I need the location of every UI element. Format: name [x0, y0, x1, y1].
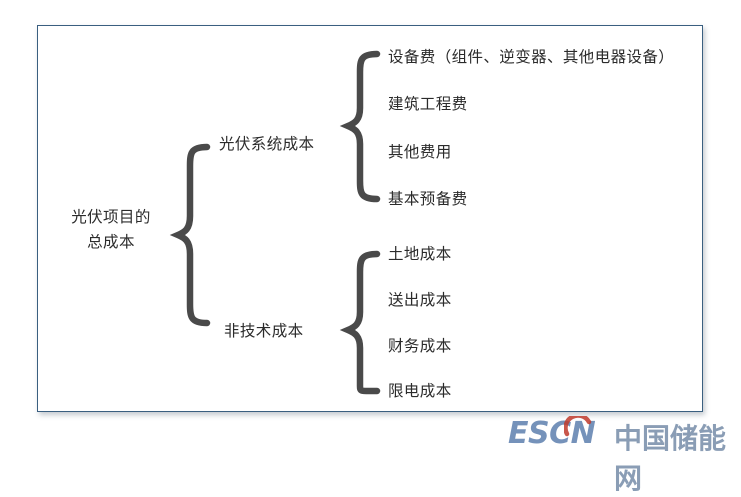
node-root: 光伏项目的 总成本: [48, 205, 174, 255]
node-leaf-equipment-cost: 设备费（组件、逆变器、其他电器设备）: [388, 46, 674, 68]
node-root-line1: 光伏项目的: [48, 205, 174, 230]
node-leaf-financial-cost: 财务成本: [388, 335, 452, 357]
node-leaf-curtailment-cost: 限电成本: [388, 380, 452, 402]
watermark: ESCN 中国储能网: [508, 416, 734, 450]
node-branch-non-technical-label: 非技术成本: [224, 320, 304, 342]
watermark-cjk-text: 中国储能网: [614, 417, 734, 497]
node-leaf-other-cost: 其他费用: [388, 141, 452, 163]
node-branch-pv-system-label: 光伏系统成本: [219, 133, 314, 155]
watermark-arc-icon: [564, 416, 592, 440]
node-leaf-transmission-cost: 送出成本: [388, 289, 452, 311]
node-root-line2: 总成本: [48, 230, 174, 255]
node-leaf-basic-reserve-cost: 基本预备费: [388, 188, 468, 210]
node-leaf-land-cost: 土地成本: [388, 243, 452, 265]
node-leaf-construction-cost: 建筑工程费: [388, 93, 468, 115]
